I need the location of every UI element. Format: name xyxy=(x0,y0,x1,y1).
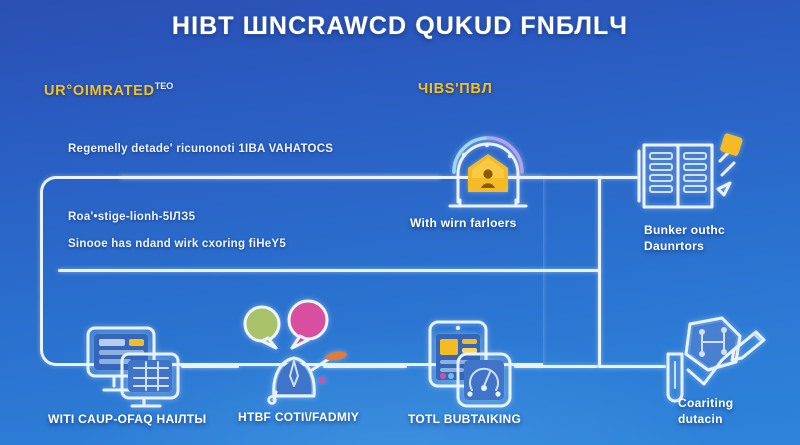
connector-bottom-segment-4 xyxy=(598,365,666,368)
connector-vertical-stem xyxy=(598,176,601,366)
node-caption-dome-home: With wirn farloers xyxy=(410,216,517,232)
node-caption-network-pen: Coariting dutacin xyxy=(678,396,733,428)
node-caption-monitors: WITI CAUP-OFAQ HAIЛTЫ xyxy=(48,412,206,428)
node-caption-tablet-gauge: TOTL BUBTAIKING xyxy=(408,412,521,428)
section-label-left-superscript: TEO xyxy=(155,81,174,91)
server-racks-icon xyxy=(636,131,746,223)
section-label-left: UR°OIMRATEDTEO xyxy=(44,81,173,99)
connector-bottom-segment-1 xyxy=(181,365,239,368)
dome-house-icon xyxy=(440,128,536,214)
section-label-right: ЧIBS'ПBЛ xyxy=(418,81,492,97)
section-label-left-text: UR°OIMRATED xyxy=(44,83,155,99)
person-chat-bubbles-icon xyxy=(246,300,356,410)
node-caption-server-racks-line2: Daunrtors xyxy=(644,239,725,255)
connector-top-horizontal-left xyxy=(120,176,440,179)
dual-monitor-icon xyxy=(82,322,186,410)
network-chart-pen-icon xyxy=(660,310,770,406)
body-line-1: Regemelly detade' ricunonoti 1IBA VAHATO… xyxy=(68,143,333,155)
connector-bottom-segment-3 xyxy=(514,365,598,368)
node-caption-server-racks-line1: Bunker outhc xyxy=(644,223,725,239)
node-caption-network-pen-line2: dutacin xyxy=(678,412,733,428)
infographic-canvas: HIBT ШNCRAWCD QUKUD FNБЛLЧ UR°OIMRATEDTE… xyxy=(0,0,800,445)
connector-middle-horizontal xyxy=(58,269,600,272)
page-title: HIBT ШNCRAWCD QUKUD FNБЛLЧ xyxy=(0,12,800,41)
node-caption-network-pen-line1: Coariting xyxy=(678,396,733,412)
tablet-gauge-icon xyxy=(424,318,524,410)
node-caption-person-chat: HTBF COTI\/FADMIY xyxy=(238,410,359,426)
node-caption-server-racks: Bunker outhc Daunrtors xyxy=(644,223,725,255)
